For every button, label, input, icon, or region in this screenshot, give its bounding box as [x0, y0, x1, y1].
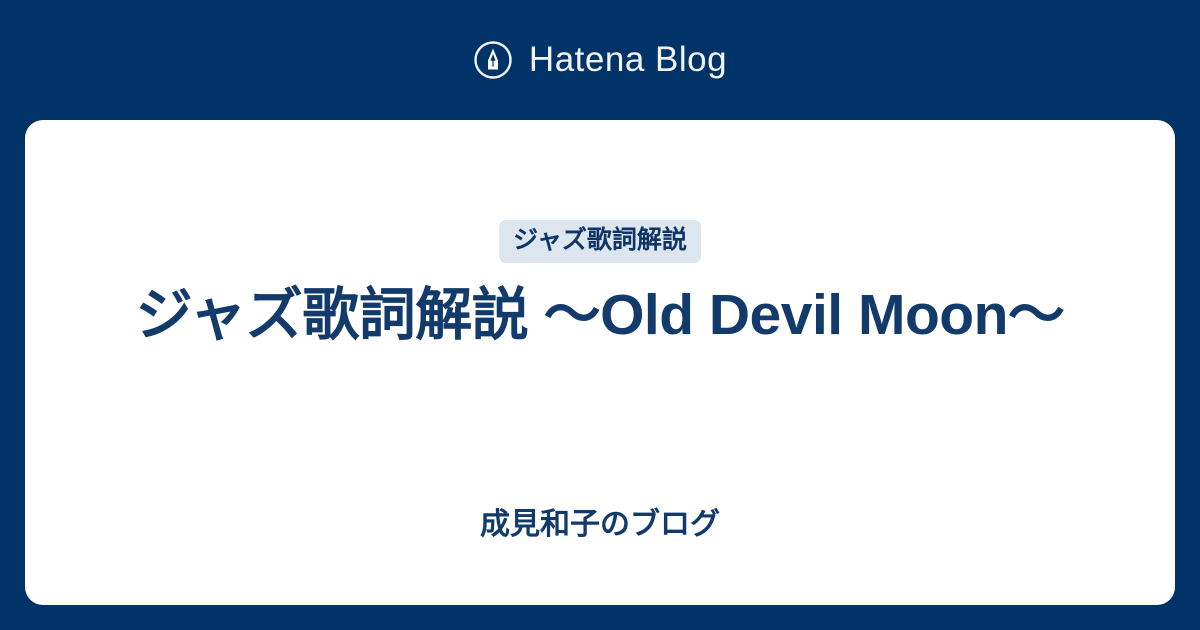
hatena-pen-nib-icon — [473, 40, 513, 80]
brand-name-label: Hatena Blog — [529, 40, 727, 80]
blog-name: 成見和子のブログ — [25, 505, 1175, 545]
entry-title: ジャズ歌詞解説 ～Old Devil Moon～ — [85, 280, 1115, 350]
hatena-blog-brand: Hatena Blog — [0, 0, 1200, 120]
entry-card: ジャズ歌詞解説 ジャズ歌詞解説 ～Old Devil Moon～ 成見和子のブロ… — [25, 120, 1175, 605]
og-image-canvas: Hatena Blog ジャズ歌詞解説 ジャズ歌詞解説 ～Old Devil M… — [0, 0, 1200, 630]
category-badge[interactable]: ジャズ歌詞解説 — [499, 220, 701, 263]
entry-card-inner: ジャズ歌詞解説 ジャズ歌詞解説 ～Old Devil Moon～ 成見和子のブロ… — [25, 120, 1175, 605]
